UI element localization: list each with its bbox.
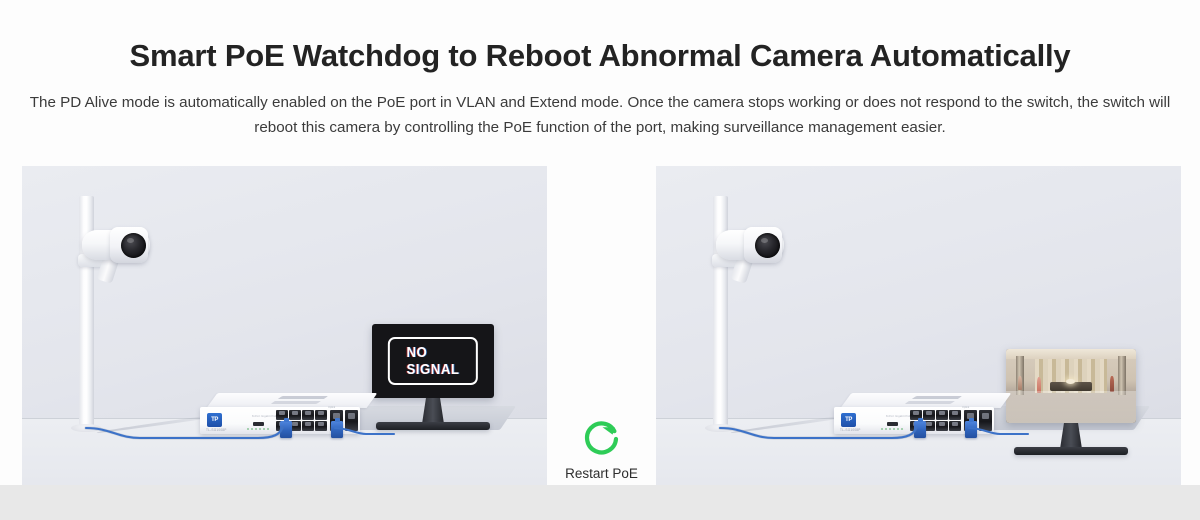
- page-description: The PD Alive mode is automatically enabl…: [14, 90, 1186, 140]
- comparison-stage: NO SIGNAL TP TL-SG1008P 8-Port Gigabit P…: [0, 166, 1200, 485]
- scene-before-panel: NO SIGNAL TP TL-SG1008P 8-Port Gigabit P…: [22, 166, 547, 485]
- ethernet-cable-icon: [22, 166, 547, 485]
- ethernet-cable-icon: [656, 166, 1181, 485]
- scene-after-panel: TP TL-SG1008P 8-Port Gigabit PoE Switch …: [656, 166, 1181, 485]
- bottom-strip: [0, 485, 1200, 520]
- page-title: Smart PoE Watchdog to Reboot Abnormal Ca…: [0, 38, 1200, 74]
- poe-watchdog-feature-page: Smart PoE Watchdog to Reboot Abnormal Ca…: [0, 0, 1200, 520]
- refresh-circular-arrow-icon: [581, 418, 623, 460]
- transition-label: Restart PoE: [547, 466, 656, 481]
